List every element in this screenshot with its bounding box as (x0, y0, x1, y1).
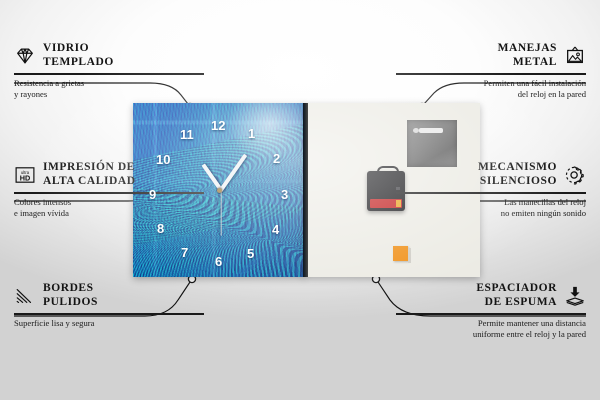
callout-subtitle-line: Superficie lisa y segura (14, 318, 204, 330)
ultra-hd-icon-bottom: HD (20, 173, 30, 182)
callout-title-line: MECANISMO (478, 161, 557, 175)
callout-title-line: MANEJAS (498, 42, 557, 56)
callout-title-line: ALTA CALIDAD (43, 175, 136, 189)
callout-title-line: VIDRIO (43, 42, 114, 56)
callout-divider (396, 313, 586, 314)
hanger-slot (419, 128, 443, 133)
clock-numeral-4: 4 (272, 223, 279, 236)
callout-subtitle-line: no emiten ningún sonido (396, 208, 586, 220)
clock-numeral-7: 7 (181, 246, 188, 259)
clock-numeral-6: 6 (215, 255, 222, 268)
callout-title-line: DE ESPUMA (476, 296, 557, 310)
callout-subtitle: Resistencia a grietas y rayones (14, 78, 204, 101)
gear-icon (564, 164, 586, 186)
diamond-icon (14, 45, 36, 67)
clock-numeral-10: 10 (156, 153, 170, 166)
clock-dial: 12 1 2 3 4 5 6 7 8 9 10 11 (133, 103, 305, 277)
callout-title: BORDES PULIDOS (43, 282, 98, 309)
clock-face-front: 12 1 2 3 4 5 6 7 8 9 10 11 (133, 103, 305, 277)
callout-manejas-metal[interactable]: MANEJAS METAL Permiten una fácil instala… (396, 42, 586, 101)
clock-numeral-12: 12 (211, 119, 225, 132)
callout-subtitle: Superficie lisa y segura (14, 318, 204, 330)
metal-hanger-plate (407, 120, 457, 167)
callout-title-line: ESPACIADOR (476, 282, 557, 296)
callout-mecanismo-silencioso[interactable]: MECANISMO SILENCIOSO Las manecillas del … (396, 161, 586, 220)
callout-title: ESPACIADOR DE ESPUMA (476, 282, 557, 309)
clock-numeral-9: 9 (149, 188, 156, 201)
callout-bordes-pulidos[interactable]: BORDES PULIDOS Superficie lisa y segura (14, 282, 204, 329)
picture-hanger-icon (564, 45, 586, 67)
callout-title-line: SILENCIOSO (478, 175, 557, 189)
callout-subtitle-line: Permiten una fácil instalación (396, 78, 586, 90)
callout-title-line: BORDES (43, 282, 98, 296)
clock-second-hand (220, 188, 221, 236)
callout-subtitle-line: y rayones (14, 89, 204, 101)
callout-subtitle-line: del reloj en la pared (396, 89, 586, 101)
callout-subtitle: Permite mantener una distancia uniforme … (396, 318, 586, 341)
infographic-stage: 12 1 2 3 4 5 6 7 8 9 10 11 (0, 0, 600, 400)
clock-numeral-5: 5 (247, 247, 254, 260)
foam-spacer-icon (564, 285, 586, 307)
callout-subtitle-line: Las manecillas del reloj (396, 197, 586, 209)
callout-divider (14, 73, 204, 74)
polished-edges-icon (14, 285, 36, 307)
callout-subtitle: Permiten una fácil instalación del reloj… (396, 78, 586, 101)
callout-subtitle: Las manecillas del reloj no emiten ningú… (396, 197, 586, 220)
clock-center-pivot (217, 188, 222, 193)
callout-divider (14, 313, 204, 314)
clock-numeral-1: 1 (248, 127, 255, 140)
clock-numeral-11: 11 (180, 128, 194, 141)
callout-title: MANEJAS METAL (498, 42, 557, 69)
callout-title-line: TEMPLADO (43, 56, 114, 70)
clock-numeral-8: 8 (157, 222, 164, 235)
ultra-hd-icon: ultra HD (14, 164, 36, 186)
clock-numeral-3: 3 (281, 188, 288, 201)
callout-subtitle-line: Resistencia a grietas (14, 78, 204, 90)
callout-title-line: IMPRESIÓN DE (43, 161, 136, 175)
callout-title-line: PULIDOS (43, 296, 98, 310)
callout-subtitle-line: uniforme entre el reloj y la pared (396, 329, 586, 341)
callout-espaciador-de-espuma[interactable]: ESPACIADOR DE ESPUMA Permite mantener un… (396, 282, 586, 341)
callout-title: MECANISMO SILENCIOSO (478, 161, 557, 188)
callout-title: IMPRESIÓN DE ALTA CALIDAD (43, 161, 136, 188)
callout-vidrio-templado[interactable]: VIDRIO TEMPLADO Resistencia a grietas y … (14, 42, 204, 101)
callout-divider (396, 192, 586, 193)
callout-title-line: METAL (498, 56, 557, 70)
clock-numeral-2: 2 (273, 152, 280, 165)
callout-divider (396, 73, 586, 74)
callout-subtitle-line: Permite mantener una distancia (396, 318, 586, 330)
clock-minute-hand (218, 154, 247, 193)
foam-spacer (393, 246, 408, 261)
callout-title: VIDRIO TEMPLADO (43, 42, 114, 69)
